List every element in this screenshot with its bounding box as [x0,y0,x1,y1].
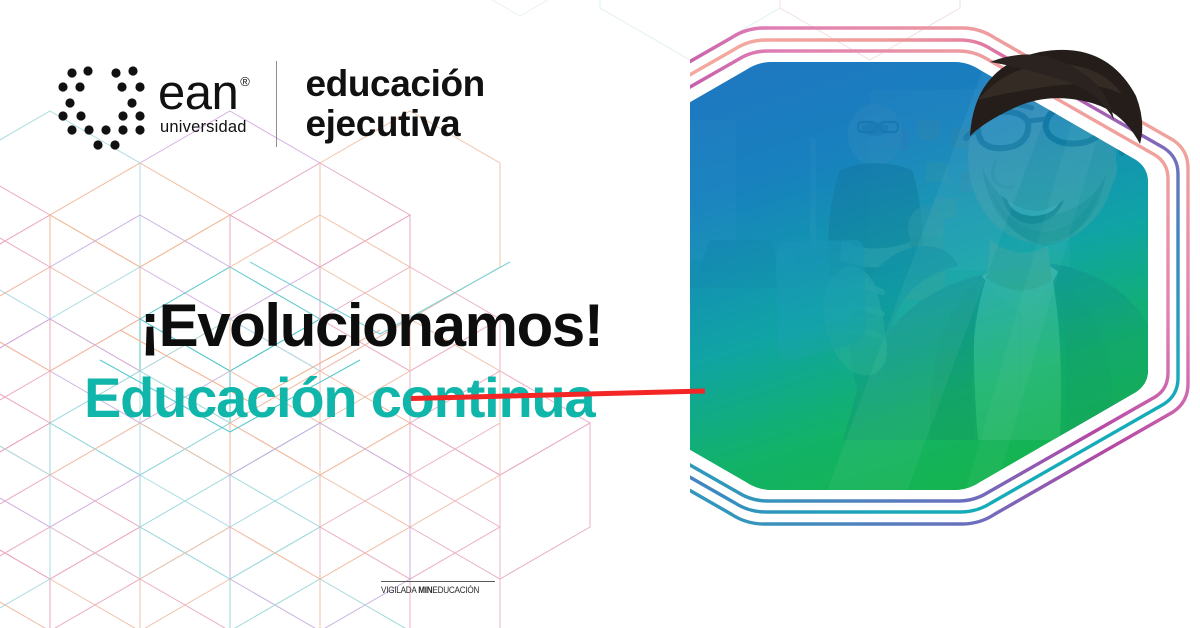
brand-subtitle: universidad [160,118,250,137]
headline-block: ¡Evolucionamos! Educación continua [84,296,724,430]
brand-logo-lockup[interactable]: ean ® universidad educación ejecutiva [56,58,485,150]
headline-secondary-wrap: Educación continua [84,370,724,430]
vigilada-mineducacion-text: VIGILADA MINEDUCACIÓN [381,585,479,596]
headline-secondary-kept: Educación [84,366,356,429]
headline-primary: ¡Evolucionamos! [140,296,724,356]
vigilada-bold: MIN [418,585,432,596]
headline-secondary: Educación continua [84,370,724,426]
vigilada-mineducacion-seal: VIGILADA MINEDUCACIÓN [381,581,495,596]
vigilada-prefix: VIGILADA [381,585,418,596]
program-name-line2: ejecutiva [305,104,484,144]
promotional-banner: ean ® universidad educación ejecutiva ¡E… [0,0,1200,628]
brand-name: ean [158,71,238,116]
vigilada-suffix: EDUCACIÓN [432,585,479,596]
ean-wordmark: ean ® universidad [158,71,250,137]
logo-divider [276,61,278,147]
program-name-line1: educación [305,64,484,104]
registered-trademark-icon: ® [240,75,250,88]
hero-hexagon-composition [690,0,1200,628]
program-name: educación ejecutiva [305,64,484,144]
ean-dot-hexagon-logo-icon [56,58,152,150]
